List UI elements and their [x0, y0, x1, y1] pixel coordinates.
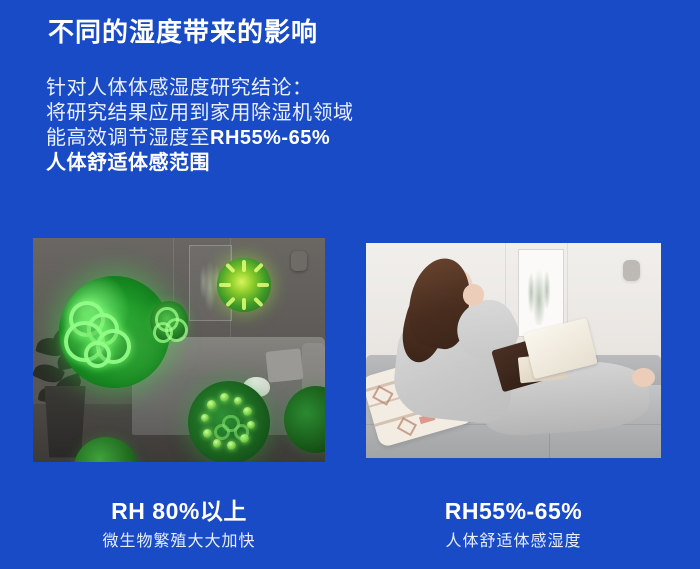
intro-line-2: 将研究结果应用到家用除湿机领域: [46, 101, 354, 126]
wall-speaker-icon: [623, 260, 640, 281]
intro-line-3-plain: 能高效调节湿度至: [46, 127, 210, 149]
caption-left-main: RH 80%以上: [33, 498, 325, 524]
dark-room-scene: [33, 238, 325, 462]
intro-line-3: 能高效调节湿度至RH55%-65%: [46, 126, 354, 151]
woman-foot: [632, 368, 656, 387]
caption-left: RH 80%以上 微生物繁殖大大加快: [33, 498, 325, 552]
intro-line-4: 人体舒适体感范围: [46, 151, 354, 176]
humidity-comparison-slide: 不同的湿度带来的影响 针对人体体感湿度研究结论： 将研究结果应用到家用除湿机领域…: [0, 0, 700, 569]
sofa-cushion: [265, 348, 303, 383]
microbe-icon: [188, 381, 270, 462]
microbe-icon: [217, 258, 271, 312]
caption-right-sub: 人体舒适体感湿度: [366, 533, 661, 551]
caption-right-main: RH55%-65%: [366, 498, 661, 524]
photo-high-humidity-mold: [33, 238, 325, 462]
cactus-shape: [525, 258, 553, 325]
page-title: 不同的湿度带来的影响: [48, 16, 318, 49]
bright-room-scene: [366, 243, 661, 458]
intro-paragraph: 针对人体体感湿度研究结论： 将研究结果应用到家用除湿机领域 能高效调节湿度至RH…: [46, 76, 354, 176]
caption-left-sub: 微生物繁殖大大加快: [33, 533, 325, 551]
intro-line-3-highlight: RH55%-65%: [210, 127, 330, 149]
microbe-icon: [150, 301, 188, 341]
caption-right: RH55%-65% 人体舒适体感湿度: [366, 498, 661, 552]
photo-comfort-humidity-woman: [366, 243, 661, 458]
wall-speaker-icon: [291, 251, 307, 271]
intro-line-1: 针对人体体感湿度研究结论：: [46, 76, 354, 101]
